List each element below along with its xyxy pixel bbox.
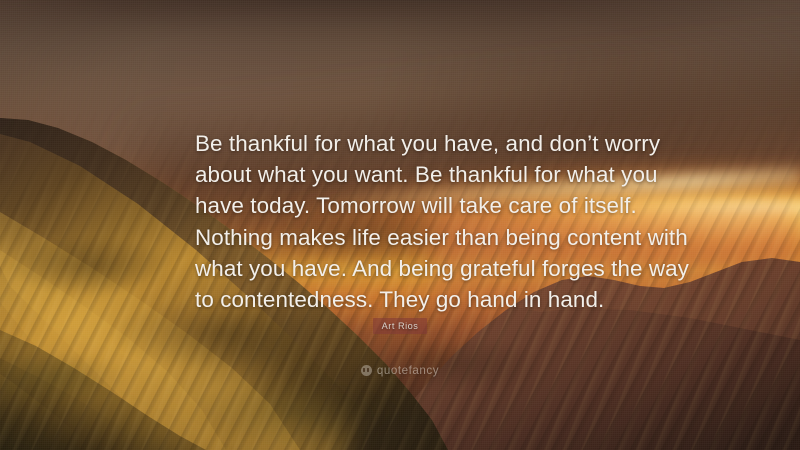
quote-line: have today. Tomorrow will take care of i… (195, 190, 699, 221)
quote-attribution: Art Rios (0, 316, 800, 334)
quote-line: to contentedness. They go hand in hand. (195, 284, 699, 315)
quote-line: about what you want. Be thankful for wha… (195, 159, 699, 190)
quotefancy-logo-icon (361, 365, 372, 376)
quote-line: Nothing makes life easier than being con… (195, 222, 699, 253)
quote-wallpaper: Be thankful for what you have, and don’t… (0, 0, 800, 450)
author-name: Art Rios (373, 318, 428, 334)
quote-line: what you have. And being grateful forges… (195, 253, 699, 284)
text-overlay: Be thankful for what you have, and don’t… (0, 0, 800, 450)
quote-text: Be thankful for what you have, and don’t… (195, 128, 699, 315)
watermark-brand-label: quotefancy (377, 364, 439, 377)
quote-line: Be thankful for what you have, and don’t… (195, 128, 699, 159)
quotefancy-watermark: quotefancy (0, 364, 800, 377)
